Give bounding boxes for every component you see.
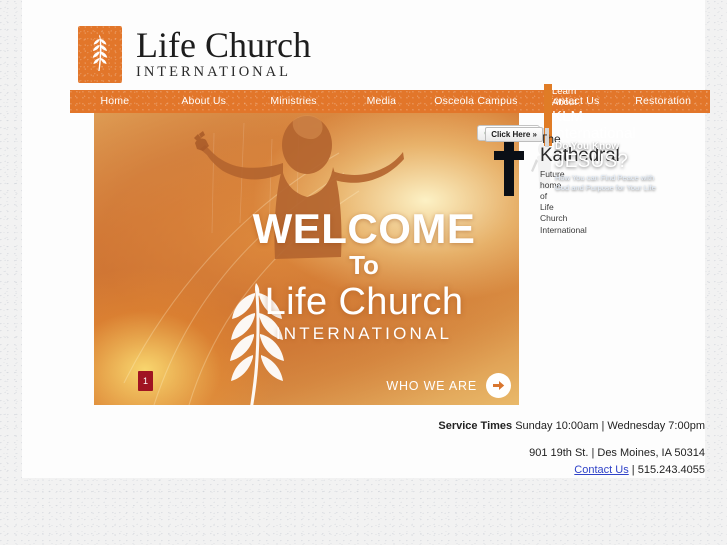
content-container: Life Church INTERNATIONAL Home About Us …: [22, 0, 705, 478]
hero-slider[interactable]: WELCOME To Life Church INTERNATIONAL 1 W…: [94, 113, 519, 405]
footer-contact-us-link[interactable]: Contact Us: [574, 464, 628, 476]
footer-service-times-value: Sunday 10:00am | Wednesday 7:00pm: [515, 420, 705, 432]
page-root: Life Church INTERNATIONAL Home About Us …: [0, 0, 727, 545]
footer-contact-row: Contact Us | 515.243.4055: [285, 464, 705, 478]
hero-headline: WELCOME To Life Church INTERNATIONAL: [214, 209, 514, 344]
hero-to-text: To: [214, 249, 514, 282]
hero-international-text: INTERNATIONAL: [214, 324, 514, 344]
hero-welcome-text: WELCOME: [214, 209, 514, 249]
footer-service-times-row: Service Times Sunday 10:00am | Wednesday…: [285, 420, 705, 434]
site-header: Life Church INTERNATIONAL: [78, 22, 311, 86]
who-we-are-button[interactable]: WHO WE ARE: [386, 373, 511, 398]
nav-item-media[interactable]: Media: [339, 90, 423, 113]
nav-item-about-us[interactable]: About Us: [160, 90, 248, 113]
logo-title: Life Church: [136, 28, 311, 63]
nav-item-osceola-campus[interactable]: Osceola Campus: [423, 90, 528, 113]
wheat-icon[interactable]: [78, 26, 122, 83]
hero-church-name: Life Church: [214, 282, 514, 323]
site-footer: Service Times Sunday 10:00am | Wednesday…: [285, 420, 705, 477]
footer-service-times-label: Service Times: [438, 420, 512, 432]
nav-item-ministries[interactable]: Ministries: [248, 90, 340, 113]
banner-do-you-know-jesus[interactable]: Do You Know JESUS? How You can Find Peac…: [547, 128, 549, 147]
logo-text[interactable]: Life Church INTERNATIONAL: [136, 28, 311, 80]
nav-item-home[interactable]: Home: [70, 90, 160, 113]
logo-subtitle: INTERNATIONAL: [136, 65, 311, 80]
arrow-right-icon: [486, 373, 511, 398]
who-we-are-label: WHO WE ARE: [386, 379, 477, 393]
footer-phone-separator: |: [629, 464, 638, 476]
sidebar-banners: Learn About KLM International: [543, 129, 709, 147]
footer-phone: 515.243.4055: [638, 464, 705, 476]
slide-indicator-1[interactable]: 1: [138, 371, 153, 391]
nav-item-restoration[interactable]: Restoration: [616, 90, 710, 113]
main-navigation[interactable]: Home About Us Ministries Media Osceola C…: [70, 90, 710, 113]
footer-address: 901 19th St. | Des Moines, IA 50314: [285, 447, 705, 461]
